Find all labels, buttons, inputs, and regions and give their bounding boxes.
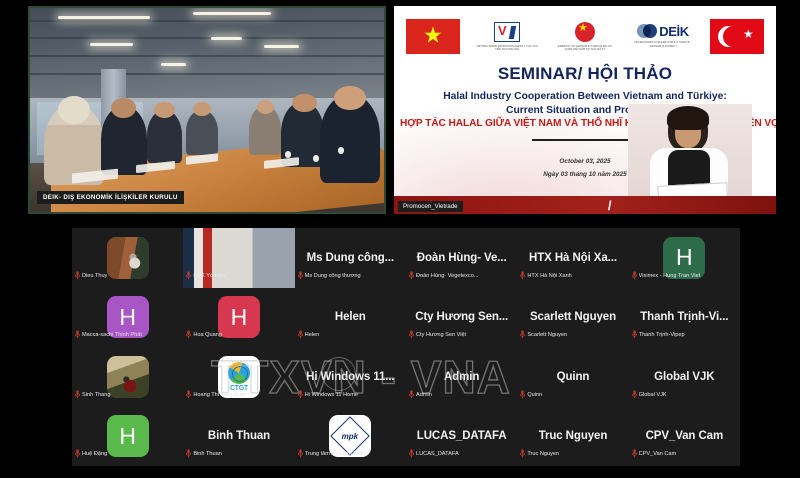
- participant-tile[interactable]: Binh ThuanBinh Thuan: [183, 407, 294, 467]
- participant-tile[interactable]: QuinnQuinn: [517, 347, 628, 407]
- participant-tile[interactable]: HMacca-sachi Thịnh Phát: [72, 288, 183, 348]
- participant-nameplate-label: Hoang Thi Minh Xuan: [193, 392, 247, 398]
- participant-nameplate: HTX Hà Nội Xanh: [520, 267, 571, 285]
- participant-avatar-photo: [107, 237, 149, 279]
- participant-tile[interactable]: CTGTHoang Thi Minh Xuan: [183, 347, 294, 407]
- video-tile-vietrade[interactable]: ★ VIETNAM TRADE PROMOTION AGENCY CỤC XÚC…: [394, 6, 776, 214]
- microphone-icon: [409, 326, 414, 344]
- participant-nameplate: Sinh Thang: [75, 386, 111, 404]
- participant-nameplate-label: Đoàn Hùng- Vegetexco...: [416, 273, 479, 279]
- vietrade-logo-caption: VIETNAM TRADE PROMOTION AGENCY CỤC XÚC T…: [476, 45, 538, 51]
- participant-tile[interactable]: Truc NguyenTruc Nguyen: [517, 407, 628, 467]
- microphone-icon: [520, 386, 525, 404]
- participant-nameplate: Cty Hương Sen Việt: [409, 326, 466, 344]
- participant-nameplate: Quinn: [520, 386, 542, 404]
- video-tile-deik-label: DEIK- DIŞ EKONOMİK İLİŞKİLER KURULU: [37, 191, 184, 204]
- video-tile-deik[interactable]: DEIK- DIŞ EKONOMİK İLİŞKİLER KURULU: [28, 6, 386, 214]
- participant-tile[interactable]: Dieu Thuy: [72, 228, 183, 288]
- participant-display-name: Truc Nguyen: [537, 430, 610, 442]
- participant-nameplate: Helen: [298, 326, 320, 344]
- participant-nameplate-label: Hi Windows 11 Home: [305, 392, 358, 398]
- participant-tile[interactable]: Scarlett NguyenScarlett Nguyen: [517, 288, 628, 348]
- microphone-icon: [520, 267, 525, 285]
- slide-logo-row: ★ VIETNAM TRADE PROMOTION AGENCY CỤC XÚC…: [406, 16, 764, 56]
- embassy-emblem-icon: EMBASSY OF VIETNAM IN TÜRKİYE ĐẠI SỨ QUÁ…: [554, 21, 616, 51]
- microphone-icon: [75, 445, 80, 463]
- participant-display-name: Đoàn Hùng- Ve...: [415, 252, 509, 264]
- microphone-icon: [75, 326, 80, 344]
- participant-tile[interactable]: Cty Hương Sen...Cty Hương Sen Việt: [406, 288, 517, 348]
- participant-display-name: Admin: [442, 371, 481, 383]
- participant-nameplate: Scarlett Nguyen: [520, 326, 567, 344]
- microphone-icon: [298, 267, 303, 285]
- participant-avatar-photo: [107, 356, 149, 398]
- participant-tile[interactable]: HHoa Quang: [183, 288, 294, 348]
- participant-nameplate-label: Binh Thuan: [193, 451, 222, 457]
- participant-nameplate: Hi Windows 11 Home: [298, 386, 358, 404]
- slide-subtitle-en-line1: Halal Industry Cooperation Between Vietn…: [408, 90, 762, 104]
- microphone-icon: [409, 386, 414, 404]
- slide-title: SEMINAR/ HỘI THẢO: [394, 64, 776, 84]
- participant-nameplate: Truc Nguyen: [520, 445, 559, 463]
- participant-tile[interactable]: HVisimex - Hung Tran Viet: [629, 228, 740, 288]
- participant-nameplate: Hoa Quang: [186, 326, 222, 344]
- microphone-icon: [298, 326, 303, 344]
- participant-tile[interactable]: CPV_Van CamCPV_Van Cam: [629, 407, 740, 467]
- participant-display-name: CPV_Van Cam: [644, 430, 726, 442]
- participant-nameplate-label: Hoa Quang: [193, 332, 222, 338]
- participant-nameplate-label: HTX Hà Nội Xanh: [527, 273, 571, 279]
- microphone-icon: [186, 326, 191, 344]
- participant-nameplate-label: LUCAS_DATAFA: [416, 451, 459, 457]
- participant-display-name: Thanh Trịnh-Vi...: [638, 311, 730, 323]
- microphone-icon: [186, 445, 191, 463]
- participant-nameplate: Trung tâm Xúc tiến Thư...: [298, 445, 368, 463]
- participant-nameplate-label: Sinh Thang: [82, 392, 111, 398]
- microphone-icon: [520, 326, 525, 344]
- microphone-icon: [409, 445, 414, 463]
- participant-nameplate: Binh Thuan: [186, 445, 222, 463]
- participant-display-name: LUCAS_DATAFA: [415, 430, 509, 442]
- participant-display-name: Quinn: [555, 371, 592, 383]
- participant-nameplate-label: Cty Hương Sen Việt: [416, 332, 466, 338]
- participant-nameplate-label: HAK Yönetici: [193, 273, 226, 279]
- participant-nameplate: Hoang Thi Minh Xuan: [186, 386, 247, 404]
- participant-nameplate-label: Thanh Trịnh-Vipep: [639, 332, 685, 338]
- participant-grid-panel: Dieu ThuyHAK YöneticiMs Dung công...Ms D…: [72, 228, 740, 466]
- participant-tile[interactable]: HelenHelen: [295, 288, 406, 348]
- participant-nameplate: Admin: [409, 386, 432, 404]
- participant-nameplate: Đoàn Hùng- Vegetexco...: [409, 267, 479, 285]
- participant-nameplate-label: Helen: [305, 332, 320, 338]
- microphone-icon: [632, 386, 637, 404]
- participant-nameplate: CPV_Van Cam: [632, 445, 677, 463]
- participant-display-name: Cty Hương Sen...: [413, 311, 510, 323]
- participant-display-name: HTX Hà Nội Xa...: [527, 252, 619, 264]
- participant-nameplate-label: Ms Dung công thương: [305, 273, 361, 279]
- slide-divider: [532, 139, 638, 141]
- participant-nameplate: Dieu Thuy: [75, 267, 107, 285]
- vietrade-logo-icon: VIETNAM TRADE PROMOTION AGENCY CỤC XÚC T…: [476, 21, 538, 51]
- participant-tile[interactable]: LUCAS_DATAFALUCAS_DATAFA: [406, 407, 517, 467]
- participant-tile[interactable]: HHuệ Đặng: [72, 407, 183, 467]
- participant-tile[interactable]: AdminAdmin: [406, 347, 517, 407]
- microphone-icon: [186, 386, 191, 404]
- participant-nameplate: Visimex - Hung Tran Viet: [632, 267, 701, 285]
- deik-wordmark: DEİK: [659, 24, 688, 39]
- video-tile-vietrade-label: Promocen_Vietrade: [398, 201, 463, 212]
- participant-tile[interactable]: Đoàn Hùng- Ve...Đoàn Hùng- Vegetexco...: [406, 228, 517, 288]
- participant-avatar-initial: H: [218, 296, 260, 338]
- microphone-icon: [298, 445, 303, 463]
- participant-avatar-initial: H: [107, 415, 149, 457]
- participant-display-name: Binh Thuan: [206, 430, 272, 442]
- embassy-logo-caption: EMBASSY OF VIETNAM IN TÜRKİYE ĐẠI SỨ QUÁ…: [554, 45, 616, 51]
- participant-display-name: Global VJK: [652, 371, 716, 383]
- participant-grid: Dieu ThuyHAK YöneticiMs Dung công...Ms D…: [72, 228, 740, 466]
- microphone-icon: [632, 445, 637, 463]
- participant-display-name: Helen: [333, 311, 368, 323]
- participant-tile[interactable]: Ms Dung công...Ms Dung công thương: [295, 228, 406, 288]
- participant-nameplate: HAK Yönetici: [186, 267, 226, 285]
- microphone-icon: [75, 386, 80, 404]
- participant-nameplate: LUCAS_DATAFA: [409, 445, 459, 463]
- participant-tile[interactable]: HTX Hà Nội Xa...HTX Hà Nội Xanh: [517, 228, 628, 288]
- participant-tile[interactable]: Thanh Trịnh-Vi...Thanh Trịnh-Vipep: [629, 288, 740, 348]
- microphone-icon: [298, 386, 303, 404]
- globe-icon: [228, 362, 250, 384]
- participant-tile[interactable]: Global VJKGlobal VJK: [629, 347, 740, 407]
- participant-nameplate-label: Truc Nguyen: [527, 451, 559, 457]
- participant-nameplate: Thanh Trịnh-Vipep: [632, 326, 685, 344]
- microphone-icon: [186, 267, 191, 285]
- participant-display-name: Scarlett Nguyen: [528, 311, 618, 323]
- participant-tile[interactable]: Sinh Thang: [72, 347, 183, 407]
- microphone-icon: [632, 326, 637, 344]
- flag-turkiye-icon: ★: [710, 19, 764, 54]
- participant-tile[interactable]: mpkTrung tâm Xúc tiến Thư...: [295, 407, 406, 467]
- microphone-icon: [75, 267, 80, 285]
- mpk-wordmark: mpk: [342, 432, 358, 441]
- participant-nameplate-label: Huệ Đặng: [82, 451, 107, 457]
- screenshot-stage: DEIK- DIŞ EKONOMİK İLİŞKİLER KURULU ★ VI…: [0, 0, 800, 478]
- deik-logo-caption: DIŞ EKONOMİK İLİŞKİLER KURULU TÜRKİYE - …: [632, 41, 694, 47]
- participant-nameplate-label: Quinn: [527, 392, 542, 398]
- meeting-room-image: [30, 8, 384, 212]
- participant-nameplate: Global VJK: [632, 386, 667, 404]
- participant-nameplate: Ms Dung công thương: [298, 267, 361, 285]
- seminar-slide: ★ VIETNAM TRADE PROMOTION AGENCY CỤC XÚC…: [394, 6, 776, 214]
- participant-display-name: Ms Dung công...: [305, 252, 396, 264]
- flag-vietnam-icon: ★: [406, 19, 460, 54]
- participant-nameplate-label: Dieu Thuy: [82, 273, 107, 279]
- microphone-icon: [409, 267, 414, 285]
- microphone-icon: [632, 267, 637, 285]
- deik-logo-icon: DEİK DIŞ EKONOMİK İLİŞKİLER KURULU TÜRKİ…: [632, 24, 694, 47]
- participant-nameplate: Huệ Đặng: [75, 445, 107, 463]
- participant-nameplate-label: CPV_Van Cam: [639, 451, 677, 457]
- participant-tile[interactable]: HAK Yönetici: [183, 228, 294, 288]
- participant-nameplate-label: Admin: [416, 392, 432, 398]
- video-row: DEIK- DIŞ EKONOMİK İLİŞKİLER KURULU ★ VI…: [0, 0, 800, 225]
- participant-nameplate-label: Scarlett Nguyen: [527, 332, 567, 338]
- participant-nameplate-label: Macca-sachi Thịnh Phát: [82, 332, 142, 338]
- participant-nameplate-label: Global VJK: [639, 392, 667, 398]
- participant-nameplate: Macca-sachi Thịnh Phát: [75, 326, 142, 344]
- microphone-icon: [520, 445, 525, 463]
- participant-nameplate-label: Visimex - Hung Tran Viet: [639, 273, 701, 279]
- participant-nameplate-label: Trung tâm Xúc tiến Thư...: [305, 451, 368, 457]
